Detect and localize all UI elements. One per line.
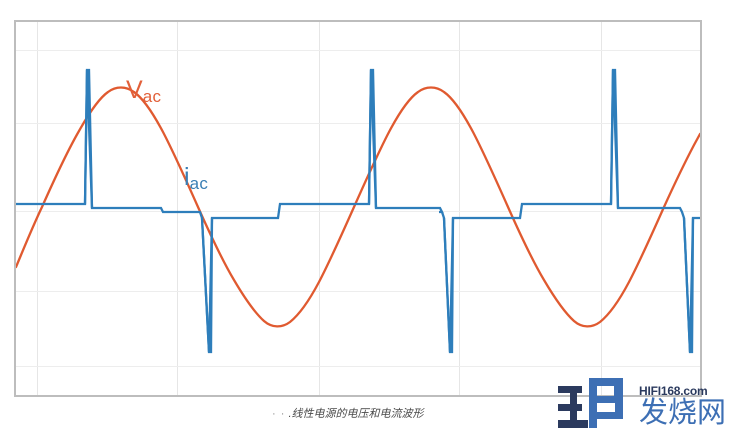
caption-lead: · ·	[272, 408, 285, 420]
voltage-series-label: Vac	[126, 78, 161, 105]
current-label-subscript: ac	[190, 174, 209, 193]
current-negative-spikes	[202, 218, 693, 352]
voltage-label-base: V	[126, 76, 143, 104]
voltage-label-subscript: ac	[143, 87, 162, 106]
figure-caption: · · .线性电源的电压和电流波形	[272, 405, 424, 421]
caption-text: .线性电源的电压和电流波形	[288, 408, 423, 420]
current-series-label: iac	[184, 165, 208, 192]
figure-container: Vac iac · · .线性电源的电压和电流波形 HIFI168.com 发烧…	[0, 0, 734, 438]
watermark: HIFI168.com 发烧网	[556, 366, 734, 438]
current-positive-spikes	[85, 70, 618, 208]
plot-frame	[14, 20, 702, 397]
watermark-name: 发烧网	[639, 398, 726, 427]
waveform-plot	[16, 22, 700, 395]
hifi168-logo-icon	[556, 372, 636, 434]
